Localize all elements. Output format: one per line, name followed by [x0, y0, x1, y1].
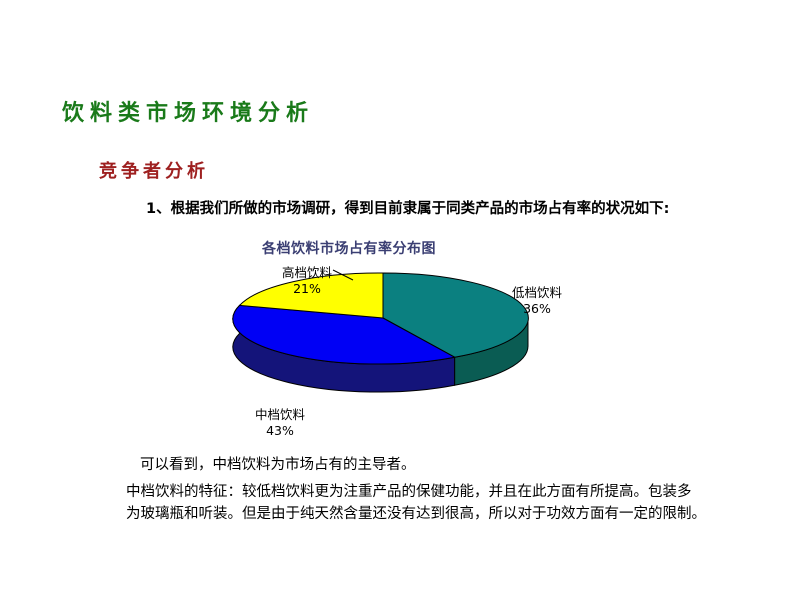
- pie-label-high: 高档饮料 21%: [252, 265, 362, 296]
- pie-label-mid-name: 中档饮料: [225, 407, 335, 423]
- pie-slice-mid: [233, 305, 455, 364]
- conclusion-text: 可以看到，中档饮料为市场占有的主导者。: [140, 456, 416, 475]
- pie-label-high-name: 高档饮料: [252, 265, 362, 281]
- page-title: 饮料类市场环境分析: [62, 101, 314, 127]
- pie-slice-low: [383, 273, 528, 357]
- presentation-slide: 饮料类市场环境分析 竞争者分析 1、根据我们所做的市场调研，得到目前隶属于同类产…: [0, 0, 800, 600]
- pie-label-mid: 中档饮料 43%: [225, 407, 335, 438]
- body-paragraph-line-1: 中档饮料的特征：较低档饮料更为注重产品的保健功能，并且在此方面有所提高。包装多: [126, 481, 786, 503]
- pie-label-mid-value: 43%: [225, 423, 335, 439]
- lead-paragraph: 1、根据我们所做的市场调研，得到目前隶属于同类产品的市场占有率的状况如下:: [146, 200, 669, 218]
- pie-leader-line-high: [333, 270, 353, 280]
- pie-slice-side-low: [455, 318, 528, 385]
- pie-label-low-name: 低档饮料: [492, 285, 582, 301]
- section-heading: 竞争者分析: [99, 161, 209, 183]
- pie-slice-high: [240, 273, 383, 318]
- chart-title: 各档饮料市场占有率分布图: [262, 238, 436, 258]
- body-paragraph: 中档饮料的特征：较低档饮料更为注重产品的保健功能，并且在此方面有所提高。包装多 …: [126, 481, 786, 526]
- pie-chart-graphic: [215, 258, 555, 418]
- pie-label-low: 低档饮料 36%: [492, 285, 582, 316]
- pie-label-low-value: 36%: [492, 301, 582, 317]
- body-paragraph-line-2: 为玻璃瓶和听装。但是由于纯天然含量还没有达到很高，所以对于功效方面有一定的限制。: [126, 503, 786, 525]
- pie-label-high-value: 21%: [252, 281, 362, 297]
- pie-slice-side-mid: [233, 305, 455, 392]
